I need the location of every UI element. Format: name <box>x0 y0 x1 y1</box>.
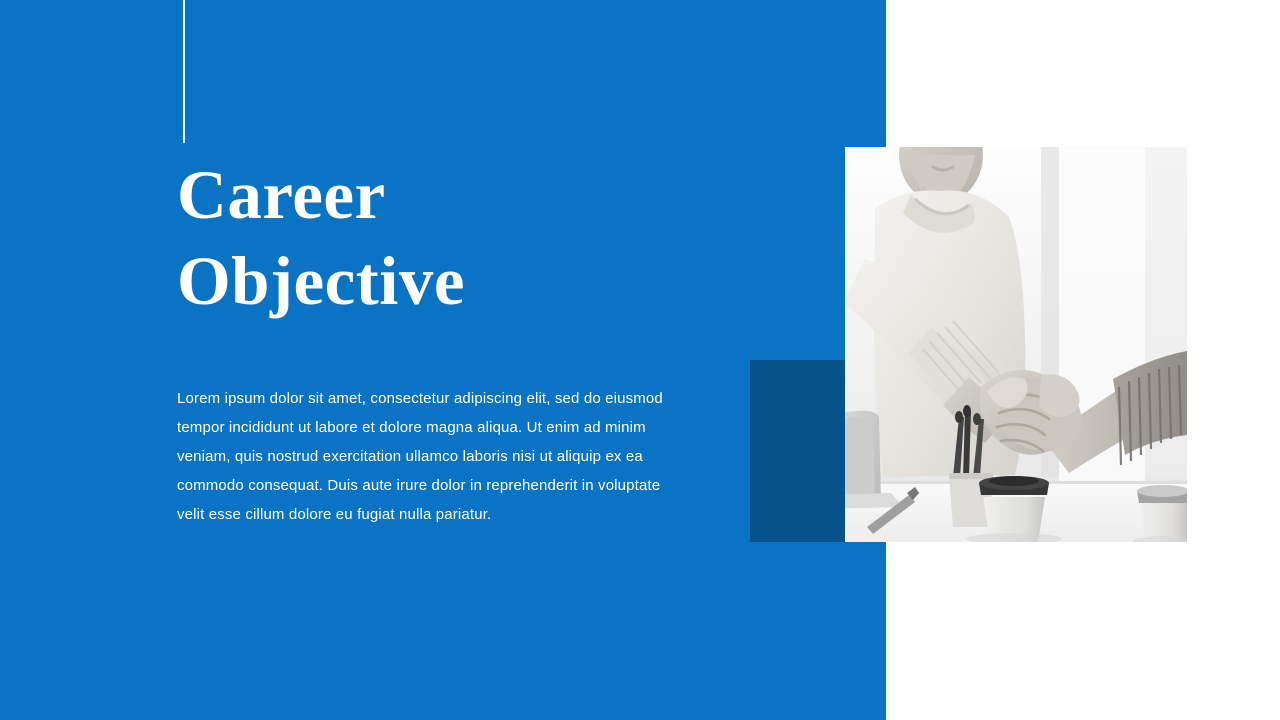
vertical-rule-decoration <box>183 0 185 143</box>
handshake-photo <box>845 147 1187 542</box>
page-title: Career Objective <box>177 152 777 324</box>
body-paragraph: Lorem ipsum dolor sit amet, consectetur … <box>177 384 663 529</box>
title-line-1: Career <box>177 152 777 238</box>
handshake-photo-graphic <box>845 147 1187 542</box>
title-line-2: Objective <box>177 238 777 324</box>
slide-career-objective: Career Objective Lorem ipsum dolor sit a… <box>0 0 1280 720</box>
